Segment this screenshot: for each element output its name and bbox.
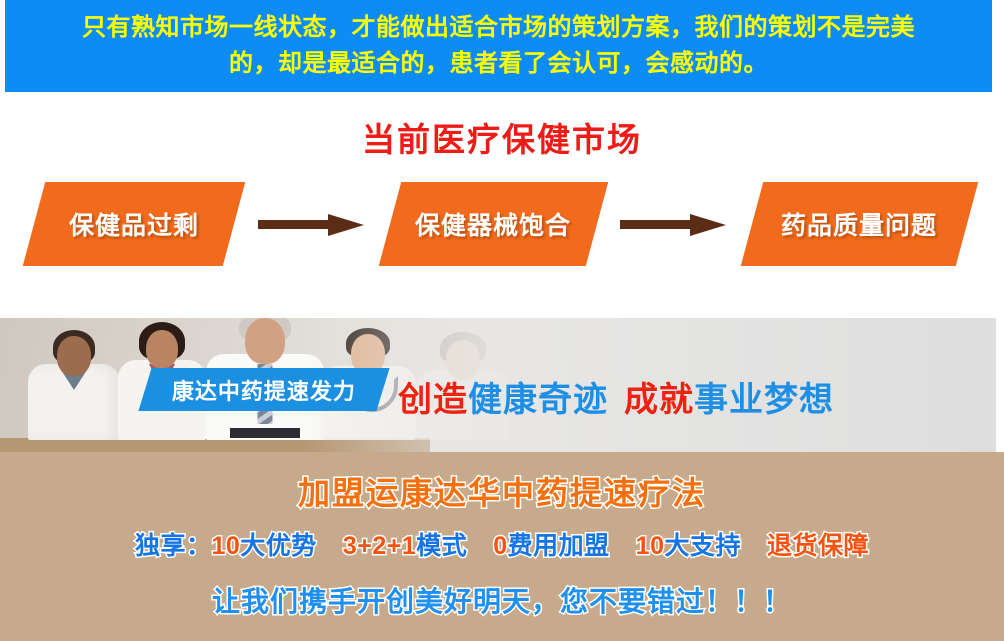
arrow-shaft [620, 220, 694, 229]
arrow-head [328, 214, 364, 236]
benefit-3-number: 0 [493, 532, 507, 560]
banner-headline: 创造健康奇迹成就事业梦想 [398, 372, 834, 421]
face [57, 336, 91, 376]
flow-step-2: 保健器械饱合 [379, 182, 609, 266]
benefit-1-number: 10 [211, 532, 240, 560]
slogan-bar: 只有熟知市场一线状态，才能做出适合市场的策划方案，我们的策划不是完美 的，却是最… [5, 0, 992, 92]
page-title: 当前医疗保健市场 [0, 113, 1004, 161]
flow-step-1: 保健品过剩 [23, 182, 246, 266]
brand-flag-label: 康达中药提速发力 [172, 374, 356, 406]
benefit-label-exclusive: 独享： [135, 532, 212, 560]
face [146, 330, 178, 368]
face [245, 318, 285, 364]
benefit-3-text: 费用加盟 [508, 532, 610, 560]
headline-part-3: 成就 [624, 381, 694, 419]
doctors-photo-banner: 康达中药提速发力 创造健康奇迹成就事业梦想 [0, 318, 996, 452]
brand-flag-banner: 康达中药提速发力 [138, 368, 389, 411]
arrow-right-icon [258, 214, 368, 234]
offer-closing-line: 让我们携手开创美好明天，您不要错过！！！ [0, 580, 1004, 620]
slogan-line-1: 只有熟知市场一线状态，才能做出适合市场的策划方案，我们的策划不是完美 [82, 10, 915, 46]
headline-part-1: 创造 [398, 381, 468, 419]
slogan-line-2: 的，却是最适合的，患者看了会认可，会感动的。 [229, 46, 768, 82]
benefit-2-text: 模式 [416, 532, 467, 560]
offer-panel: 加盟运康达华中药提速疗法 独享：10大优势3+2+1模式0费用加盟10大支持退货… [0, 452, 1004, 641]
benefit-2-number: 3+2+1 [343, 532, 416, 560]
market-flow-diagram: 保健品过剩 保健器械饱合 药品质量问题 [0, 182, 1004, 268]
offer-title: 加盟运康达华中药提速疗法 [0, 468, 1004, 514]
benefit-4-number: 10 [636, 532, 665, 560]
flow-step-1-label: 保健品过剩 [69, 206, 199, 242]
arrow-shaft [258, 220, 332, 229]
flow-step-3-label: 药品质量问题 [781, 206, 937, 242]
flow-step-3: 药品质量问题 [741, 182, 979, 266]
benefit-5-text: 退货保障 [767, 532, 869, 560]
benefit-1-text: 大优势 [240, 532, 317, 560]
offer-benefits-row: 独享：10大优势3+2+1模式0费用加盟10大支持退货保障 [0, 526, 1004, 562]
doctor-figure-1 [28, 328, 120, 440]
arrow-right-icon-2 [620, 214, 730, 234]
benefit-4-text: 大支持 [664, 532, 741, 560]
headline-part-2: 健康奇迹 [468, 381, 608, 419]
promo-page: 只有熟知市场一线状态，才能做出适合市场的策划方案，我们的策划不是完美 的，却是最… [0, 0, 1004, 641]
arrow-head [690, 214, 726, 236]
belt [230, 428, 300, 438]
headline-part-4: 事业梦想 [694, 381, 834, 419]
flow-step-2-label: 保健器械饱合 [415, 206, 571, 242]
